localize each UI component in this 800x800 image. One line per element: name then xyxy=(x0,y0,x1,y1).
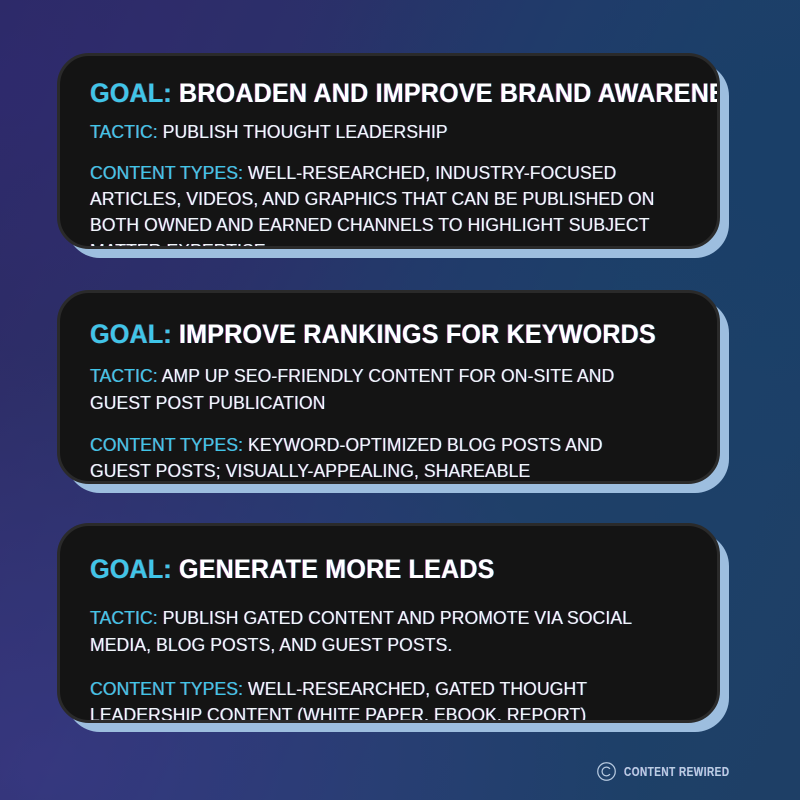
tactic-value: AMP UP SEO-FRIENDLY CONTENT FOR ON-SITE … xyxy=(90,365,614,412)
goal-label: GOAL: xyxy=(90,78,172,108)
tactic-value: PUBLISH GATED CONTENT AND PROMOTE VIA SO… xyxy=(90,607,631,654)
goal-card: GOAL: IMPROVE RANKINGS FOR KEYWORDS TACT… xyxy=(57,290,720,484)
goal-heading: GOAL: BROADEN AND IMPROVE BRAND AWARENES… xyxy=(90,78,645,109)
card-body: GOAL: BROADEN AND IMPROVE BRAND AWARENES… xyxy=(57,53,720,249)
tactic-label: TACTIC: xyxy=(90,365,158,386)
goal-card: GOAL: GENERATE MORE LEADS TACTIC: PUBLIS… xyxy=(57,523,720,723)
goal-heading: GOAL: IMPROVE RANKINGS FOR KEYWORDS xyxy=(90,319,645,350)
brand-watermark: CONTENT REWIRED xyxy=(596,761,756,782)
tactic-label: TACTIC: xyxy=(90,121,158,142)
content-types-label: CONTENT TYPES: xyxy=(90,678,243,699)
tactic-label: TACTIC: xyxy=(90,607,158,628)
tactic-row: TACTIC: PUBLISH THOUGHT LEADERSHIP xyxy=(90,119,657,145)
goal-value: IMPROVE RANKINGS FOR KEYWORDS xyxy=(179,319,656,349)
content-types-row: CONTENT TYPES: WELL-RESEARCHED, GATED TH… xyxy=(90,676,657,723)
tactic-row: TACTIC: AMP UP SEO-FRIENDLY CONTENT FOR … xyxy=(90,363,657,416)
goal-heading: GOAL: GENERATE MORE LEADS xyxy=(90,554,645,585)
card-body: GOAL: GENERATE MORE LEADS TACTIC: PUBLIS… xyxy=(57,523,720,723)
goal-card: GOAL: BROADEN AND IMPROVE BRAND AWARENES… xyxy=(57,53,720,249)
goal-label: GOAL: xyxy=(90,554,172,584)
infographic-poster: GOAL: BROADEN AND IMPROVE BRAND AWARENES… xyxy=(0,0,800,800)
goal-label: GOAL: xyxy=(90,319,172,349)
content-types-row: CONTENT TYPES: WELL-RESEARCHED, INDUSTRY… xyxy=(90,160,657,249)
content-types-label: CONTENT TYPES: xyxy=(90,434,243,455)
circled-c-icon xyxy=(596,761,617,782)
content-types-label: CONTENT TYPES: xyxy=(90,162,243,183)
brand-name: CONTENT REWIRED xyxy=(624,765,730,779)
content-types-row: CONTENT TYPES: KEYWORD-OPTIMIZED BLOG PO… xyxy=(90,432,657,484)
tactic-row: TACTIC: PUBLISH GATED CONTENT AND PROMOT… xyxy=(90,605,657,658)
tactic-value: PUBLISH THOUGHT LEADERSHIP xyxy=(163,121,448,142)
goal-value: BROADEN AND IMPROVE BRAND AWARENESS xyxy=(179,78,720,108)
card-body: GOAL: IMPROVE RANKINGS FOR KEYWORDS TACT… xyxy=(57,290,720,484)
goal-value: GENERATE MORE LEADS xyxy=(179,554,495,584)
